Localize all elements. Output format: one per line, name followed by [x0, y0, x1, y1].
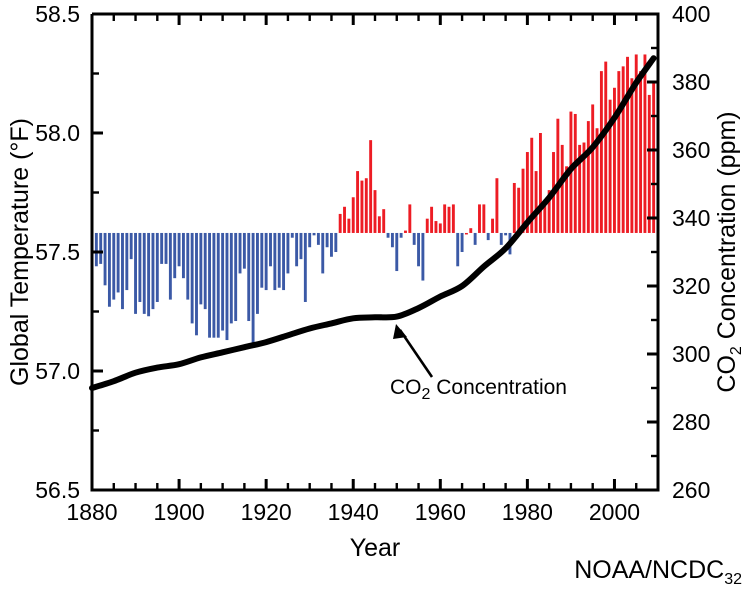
- temperature-bar: [265, 233, 268, 290]
- temperature-bar: [487, 233, 490, 240]
- temperature-bar: [138, 233, 141, 302]
- temperature-bar: [321, 233, 324, 273]
- temperature-bar: [195, 233, 198, 335]
- temperature-bar: [539, 133, 542, 233]
- temperature-bar: [343, 207, 346, 233]
- temperature-bar: [517, 188, 520, 233]
- temperature-bar: [273, 233, 276, 290]
- temperature-bar: [165, 233, 168, 264]
- temperature-bar: [491, 219, 494, 233]
- temperature-bar: [147, 233, 150, 316]
- temperature-bar: [469, 228, 472, 233]
- temperature-bar: [117, 233, 120, 293]
- temperature-bar: [243, 233, 246, 269]
- source-credit-reference: 32: [724, 571, 742, 588]
- co2-temperature-chart: 188019001920194019601980200056.557.057.5…: [0, 0, 752, 600]
- temperature-bar: [365, 178, 368, 233]
- temperature-bar: [143, 233, 146, 314]
- temperature-bar: [648, 95, 651, 233]
- x-axis-tick-label: 1960: [415, 499, 466, 525]
- temperature-bar: [535, 171, 538, 233]
- temperature-bar: [617, 71, 620, 233]
- y-axis-right-title-subscript: 2: [728, 346, 745, 355]
- temperature-bar: [182, 233, 185, 278]
- temperature-bar: [152, 233, 155, 309]
- temperature-bar: [369, 140, 372, 233]
- temperature-bar: [191, 233, 194, 323]
- temperature-bar: [347, 219, 350, 233]
- temperature-bar: [173, 233, 176, 278]
- temperature-bar: [134, 233, 137, 314]
- temperature-bar: [513, 183, 516, 233]
- temperature-bar: [286, 233, 289, 273]
- temperature-bar: [308, 233, 311, 247]
- temperature-bar: [256, 233, 259, 314]
- y-axis-right-tick-label: 360: [672, 137, 710, 163]
- temperature-bar: [417, 233, 420, 266]
- temperature-bar: [439, 223, 442, 233]
- temperature-bar: [125, 233, 128, 290]
- temperature-bar: [561, 145, 564, 233]
- temperature-bar: [204, 233, 207, 309]
- temperature-bar: [208, 233, 211, 338]
- temperature-bar: [374, 190, 377, 233]
- temperature-bar: [221, 233, 224, 331]
- temperature-bar: [226, 233, 229, 340]
- x-axis-title: Year: [350, 534, 401, 562]
- temperature-bar: [591, 104, 594, 233]
- temperature-bar: [356, 171, 359, 233]
- y-axis-left-title: Global Temperature (°F): [6, 118, 34, 386]
- temperature-bar: [230, 233, 233, 323]
- x-axis-tick-label: 1980: [502, 499, 553, 525]
- temperature-bar: [443, 204, 446, 233]
- temperature-bar: [400, 233, 403, 238]
- temperature-bar: [178, 233, 181, 266]
- temperature-bar: [278, 233, 281, 288]
- temperature-bar: [465, 233, 468, 235]
- y-axis-right-tick-label: 280: [672, 409, 710, 435]
- annotation-label-pre: CO: [390, 376, 422, 399]
- y-axis-right-tick-label: 400: [672, 1, 710, 27]
- temperature-bar: [217, 233, 220, 338]
- temperature-bar: [156, 233, 159, 302]
- y-axis-left-tick-label: 56.5: [35, 477, 80, 503]
- temperature-bar: [452, 204, 455, 233]
- y-axis-right-tick-label: 340: [672, 205, 710, 231]
- temperature-bar: [330, 233, 333, 257]
- temperature-bar: [360, 181, 363, 233]
- y-axis-right-title-pre: CO: [713, 355, 741, 393]
- x-axis-tick-label: 1920: [241, 499, 292, 525]
- temperature-bar: [317, 233, 320, 245]
- x-axis-tick-label: 1900: [153, 499, 204, 525]
- temperature-bar: [408, 204, 411, 233]
- temperature-bar: [448, 207, 451, 233]
- y-axis-right-tick-label: 380: [672, 69, 710, 95]
- temperature-bar: [556, 119, 559, 233]
- temperature-bar: [574, 114, 577, 233]
- temperature-bar: [186, 233, 189, 300]
- temperature-bar: [456, 233, 459, 266]
- temperature-bar: [99, 233, 102, 264]
- temperature-bar: [500, 233, 503, 245]
- temperature-bar: [395, 233, 398, 271]
- temperature-bar: [269, 233, 272, 266]
- temperature-bar: [339, 214, 342, 233]
- temperature-bar: [95, 233, 98, 266]
- temperature-bar: [622, 66, 625, 233]
- x-axis-tick-label: 2000: [589, 499, 640, 525]
- temperature-bar: [435, 221, 438, 233]
- temperature-bar: [130, 233, 133, 259]
- temperature-bar: [352, 197, 355, 233]
- temperature-bar: [495, 178, 498, 233]
- temperature-bar: [587, 121, 590, 233]
- temperature-bar: [430, 207, 433, 233]
- temperature-bar: [482, 204, 485, 233]
- temperature-bar: [108, 233, 111, 307]
- temperature-bar: [391, 233, 394, 247]
- temperature-bar: [291, 233, 294, 238]
- temperature-bar: [334, 233, 337, 252]
- temperature-bar: [295, 233, 298, 266]
- source-credit: NOAA/NCDC32: [574, 556, 742, 588]
- temperature-bar: [121, 233, 124, 309]
- y-axis-left-tick-label: 58.0: [35, 120, 80, 146]
- y-axis-left-tick-label: 57.5: [35, 239, 80, 265]
- source-credit-text: NOAA/NCDC: [574, 556, 724, 584]
- temperature-bar: [260, 233, 263, 288]
- temperature-bar: [478, 204, 481, 233]
- temperature-bar: [212, 233, 215, 338]
- temperature-bar: [652, 81, 655, 233]
- temperature-bar: [413, 233, 416, 245]
- temperature-bar: [504, 233, 507, 235]
- temperature-bar: [234, 233, 237, 321]
- temperature-bar: [387, 233, 390, 238]
- temperature-bar: [326, 233, 329, 247]
- temperature-bar: [247, 233, 250, 321]
- y-axis-left-tick-label: 57.0: [35, 358, 80, 384]
- temperature-bar: [300, 233, 303, 259]
- temperature-bar: [378, 216, 381, 233]
- temperature-bar: [104, 233, 107, 285]
- x-axis-tick-label: 1940: [328, 499, 379, 525]
- temperature-bar: [421, 233, 424, 281]
- y-axis-right-tick-label: 320: [672, 273, 710, 299]
- y-axis-right-tick-label: 300: [672, 341, 710, 367]
- temperature-bar: [461, 233, 464, 252]
- temperature-bar: [613, 88, 616, 233]
- temperature-bar: [630, 78, 633, 233]
- temperature-bar: [282, 233, 285, 290]
- temperature-bar: [112, 233, 115, 300]
- annotation-label-subscript: 2: [422, 386, 431, 403]
- temperature-bar: [426, 219, 429, 233]
- temperature-bar: [474, 233, 477, 245]
- temperature-bar: [600, 71, 603, 233]
- temperature-bar: [199, 233, 202, 304]
- temperature-bar: [604, 62, 607, 233]
- temperature-bar: [160, 233, 163, 264]
- temperature-bar: [252, 233, 255, 345]
- y-axis-right-title-post: Concentration (ppm): [713, 111, 741, 346]
- annotation-label-post: Concentration: [430, 376, 567, 399]
- y-axis-left-tick-label: 58.5: [35, 1, 80, 27]
- chart-canvas: 188019001920194019601980200056.557.057.5…: [0, 0, 752, 600]
- temperature-bar: [404, 231, 407, 233]
- annotation-label: CO2 Concentration: [390, 376, 567, 403]
- temperature-bar: [626, 57, 629, 233]
- temperature-bar: [382, 209, 385, 233]
- y-axis-right-tick-label: 260: [672, 477, 710, 503]
- temperature-bar: [169, 233, 172, 300]
- temperature-bar: [239, 233, 242, 273]
- temperature-bar: [639, 71, 642, 233]
- temperature-bar: [304, 233, 307, 302]
- temperature-bar: [313, 233, 316, 235]
- temperature-bar: [643, 54, 646, 233]
